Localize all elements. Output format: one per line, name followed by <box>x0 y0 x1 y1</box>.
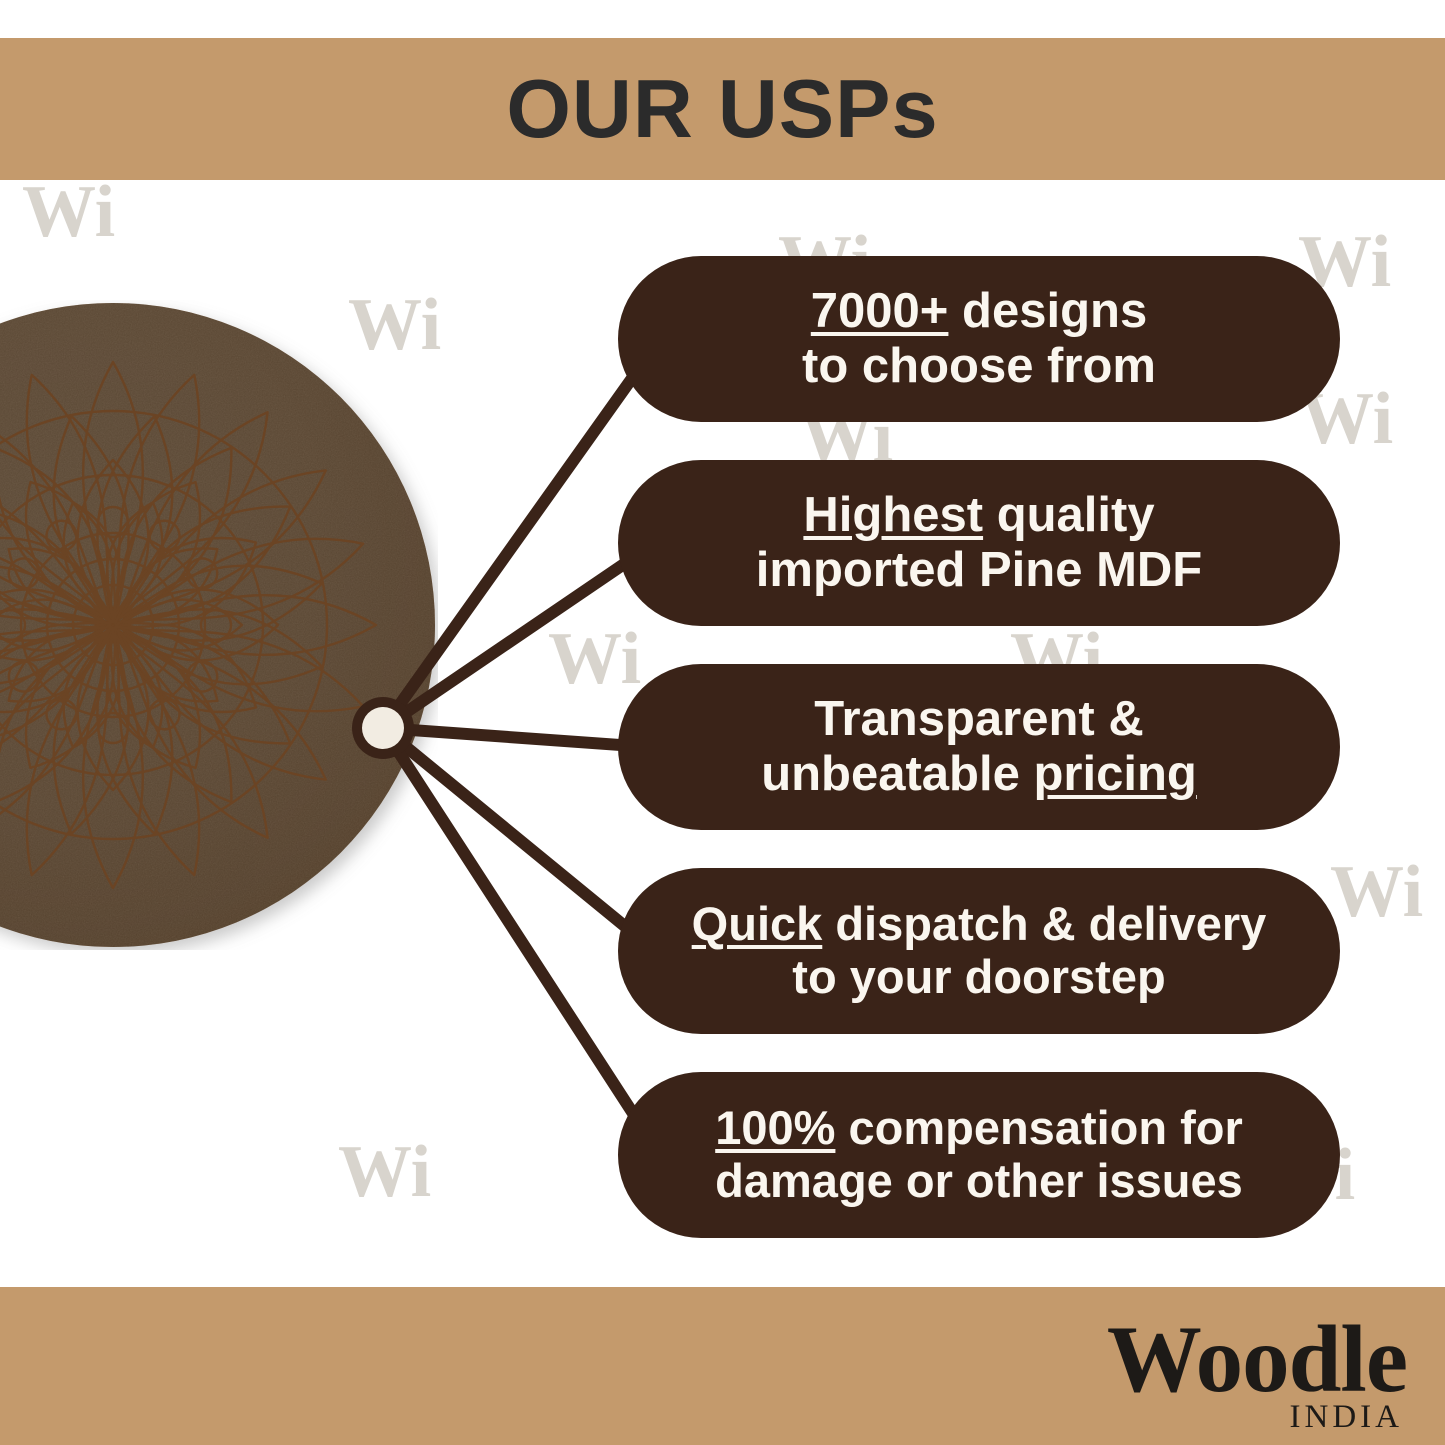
usp-line1-rest: designs <box>948 284 1147 338</box>
usp-highlight: pricing <box>1033 747 1196 801</box>
usp-pill-dispatch[interactable]: Quick dispatch & delivery to your doorst… <box>618 868 1340 1034</box>
watermark-mark: Wi <box>22 175 115 249</box>
usp-highlight: 100% <box>715 1101 835 1154</box>
usp-line-1: 7000+ designs <box>811 284 1147 339</box>
product-image-mandala-mdf <box>0 300 438 950</box>
usp-line-2: damage or other issues <box>715 1155 1243 1208</box>
page-title: OUR USPs <box>0 38 1445 180</box>
usp-line-1: Transparent & <box>814 692 1143 747</box>
usp-highlight: Highest <box>803 488 983 542</box>
infographic-canvas: Wi Wi Wi Wi Wi Wi Wi Wi Wi Wi Wi Wi <box>0 0 1445 1445</box>
usp-line1-rest: quality <box>983 488 1155 542</box>
usp-line-1: 100% compensation for <box>715 1102 1243 1155</box>
usp-line-1: Quick dispatch & delivery <box>692 898 1267 951</box>
brand-logo: Woodle INDIA <box>1107 1312 1407 1434</box>
usp-line-2: to your doorstep <box>792 951 1165 1004</box>
usp-highlight: Quick <box>692 897 823 950</box>
watermark-mark: Wi <box>548 622 641 696</box>
usp-line-1: Highest quality <box>803 488 1154 543</box>
usp-pill-designs[interactable]: 7000+ designs to choose from <box>618 256 1340 422</box>
usp-line1-rest: compensation for <box>835 1101 1242 1154</box>
usp-line-2: unbeatable pricing <box>761 747 1197 802</box>
watermark-mark: Wi <box>1330 855 1423 929</box>
usp-line1-rest: dispatch & delivery <box>822 897 1266 950</box>
usp-line2-pre: unbeatable <box>761 747 1033 801</box>
usp-pill-compensation[interactable]: 100% compensation for damage or other is… <box>618 1072 1340 1238</box>
brand-name: Woodle <box>1107 1312 1407 1407</box>
usp-line-2: to choose from <box>802 339 1156 394</box>
usp-highlight: 7000+ <box>811 284 949 338</box>
usp-line-2: imported Pine MDF <box>756 543 1202 598</box>
watermark-mark: Wi <box>338 1135 431 1209</box>
usp-pill-quality[interactable]: Highest quality imported Pine MDF <box>618 460 1340 626</box>
usp-pill-pricing[interactable]: Transparent & unbeatable pricing <box>618 664 1340 830</box>
